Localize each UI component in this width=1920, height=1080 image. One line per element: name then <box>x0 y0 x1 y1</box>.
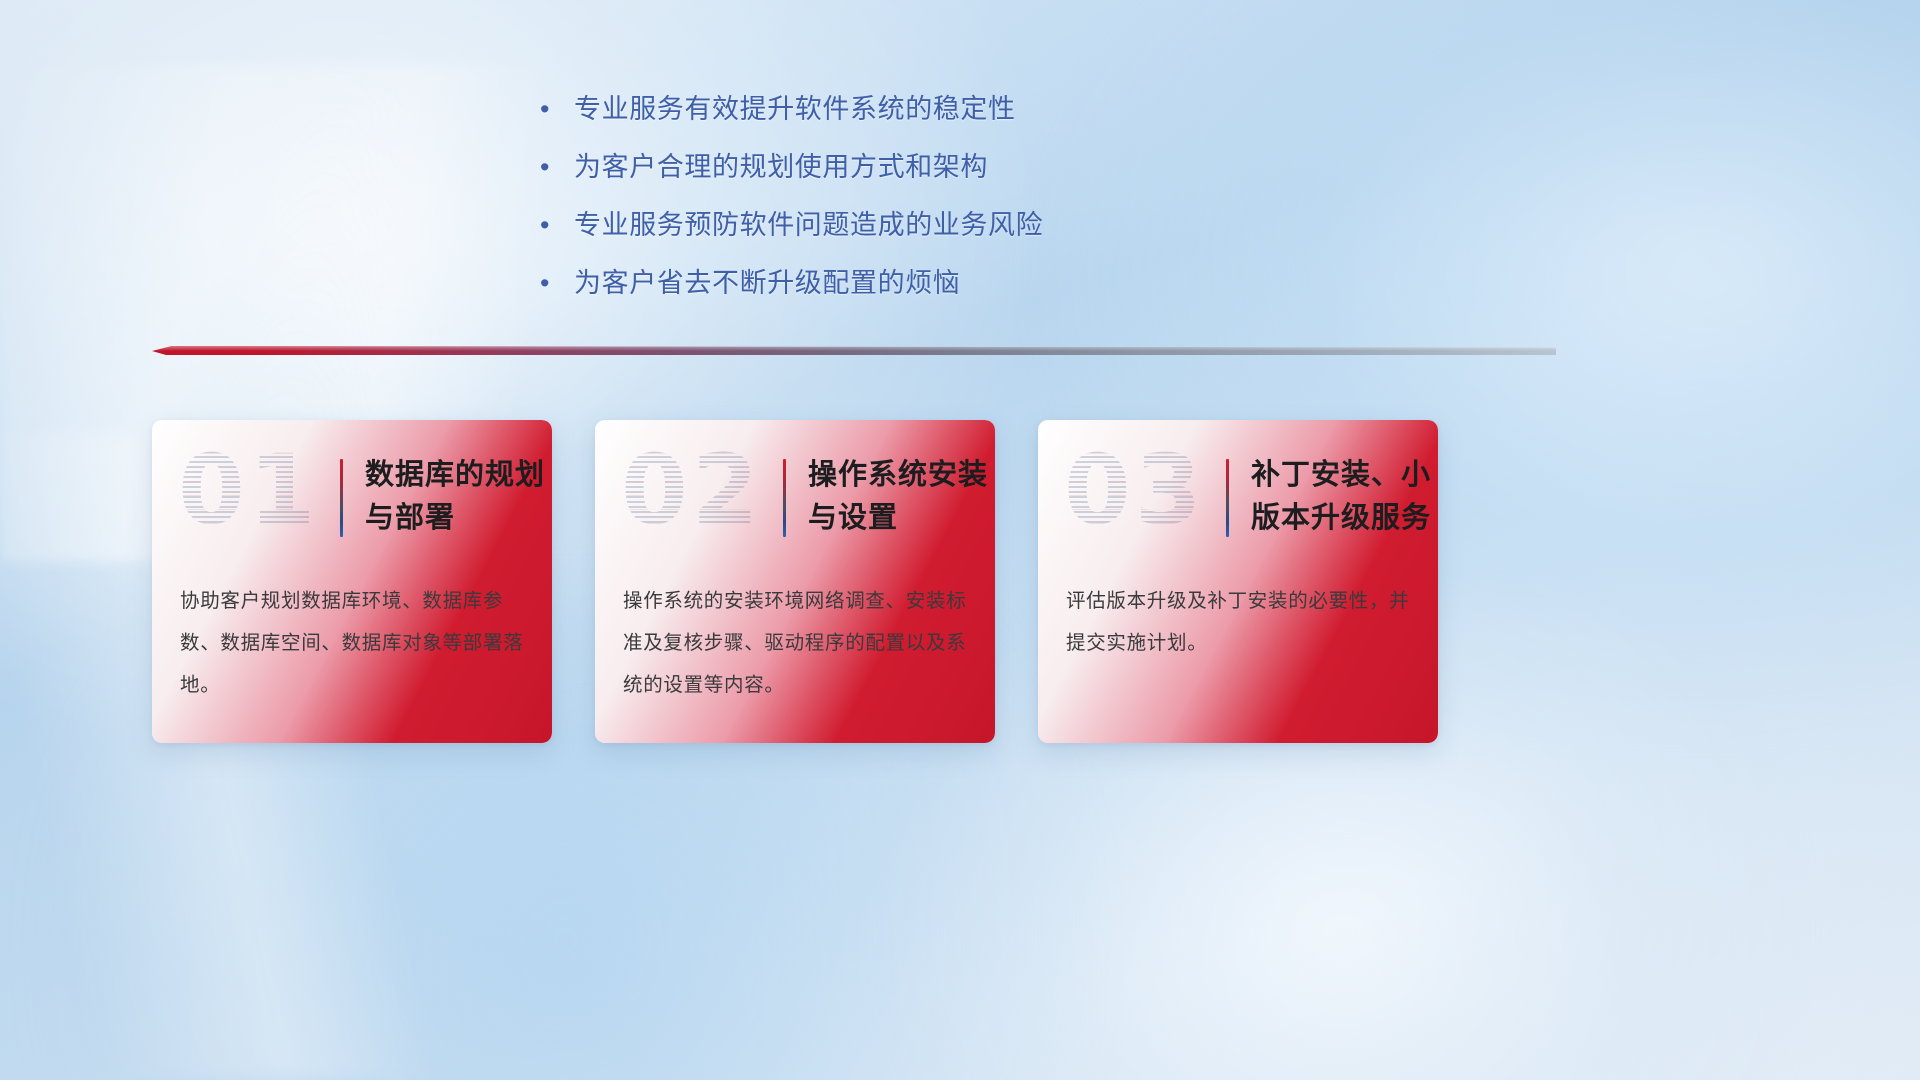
card-header: 补丁安装、小版本升级服务 <box>1226 454 1437 540</box>
list-item: • 为客户省去不断升级配置的烦恼 <box>540 266 1340 300</box>
bullet-text: 为客户合理的规划使用方式和架构 <box>574 150 988 184</box>
card-body-text: 评估版本升级及补丁安装的必要性，并提交实施计划。 <box>1066 580 1414 664</box>
slide-canvas: • 专业服务有效提升软件系统的稳定性 • 为客户合理的规划使用方式和架构 • 专… <box>0 0 1920 1080</box>
bullet-text: 专业服务预防软件问题造成的业务风险 <box>574 208 1043 242</box>
bullet-text: 专业服务有效提升软件系统的稳定性 <box>574 92 1016 126</box>
card-title: 数据库的规划与部署 <box>365 454 551 540</box>
list-item: • 专业服务有效提升软件系统的稳定性 <box>540 92 1340 126</box>
service-card[interactable]: 02 操作系统安装与设置 操作系统的安装环境网络调查、安装标准及复核步骤、驱动程… <box>595 420 995 743</box>
card-header: 数据库的规划与部署 <box>340 454 551 540</box>
card-accent-bar-icon <box>783 459 786 537</box>
bullet-list: • 专业服务有效提升软件系统的稳定性 • 为客户合理的规划使用方式和架构 • 专… <box>540 92 1340 324</box>
bullet-dot-icon: • <box>540 208 574 242</box>
section-divider <box>152 346 1556 360</box>
bullet-text: 为客户省去不断升级配置的烦恼 <box>574 266 960 300</box>
card-ghost-number: 02 <box>621 442 763 538</box>
card-ghost-number: 03 <box>1064 442 1206 538</box>
card-title: 操作系统安装与设置 <box>808 454 994 540</box>
card-header: 操作系统安装与设置 <box>783 454 994 540</box>
service-card[interactable]: 03 补丁安装、小版本升级服务 评估版本升级及补丁安装的必要性，并提交实施计划。 <box>1038 420 1438 743</box>
card-body-text: 协助客户规划数据库环境、数据库参数、数据库空间、数据库对象等部署落地。 <box>180 580 528 706</box>
bullet-dot-icon: • <box>540 92 574 126</box>
card-group: 01 数据库的规划与部署 协助客户规划数据库环境、数据库参数、数据库空间、数据库… <box>152 420 1438 743</box>
card-ghost-number: 01 <box>178 442 320 538</box>
card-body-text: 操作系统的安装环境网络调查、安装标准及复核步骤、驱动程序的配置以及系统的设置等内… <box>623 580 971 706</box>
card-title: 补丁安装、小版本升级服务 <box>1251 454 1437 540</box>
card-accent-bar-icon <box>340 459 343 537</box>
service-card[interactable]: 01 数据库的规划与部署 协助客户规划数据库环境、数据库参数、数据库空间、数据库… <box>152 420 552 743</box>
divider-bar-highlight <box>152 346 1556 355</box>
bullet-dot-icon: • <box>540 150 574 184</box>
list-item: • 为客户合理的规划使用方式和架构 <box>540 150 1340 184</box>
list-item: • 专业服务预防软件问题造成的业务风险 <box>540 208 1340 242</box>
card-accent-bar-icon <box>1226 459 1229 537</box>
bullet-dot-icon: • <box>540 266 574 300</box>
